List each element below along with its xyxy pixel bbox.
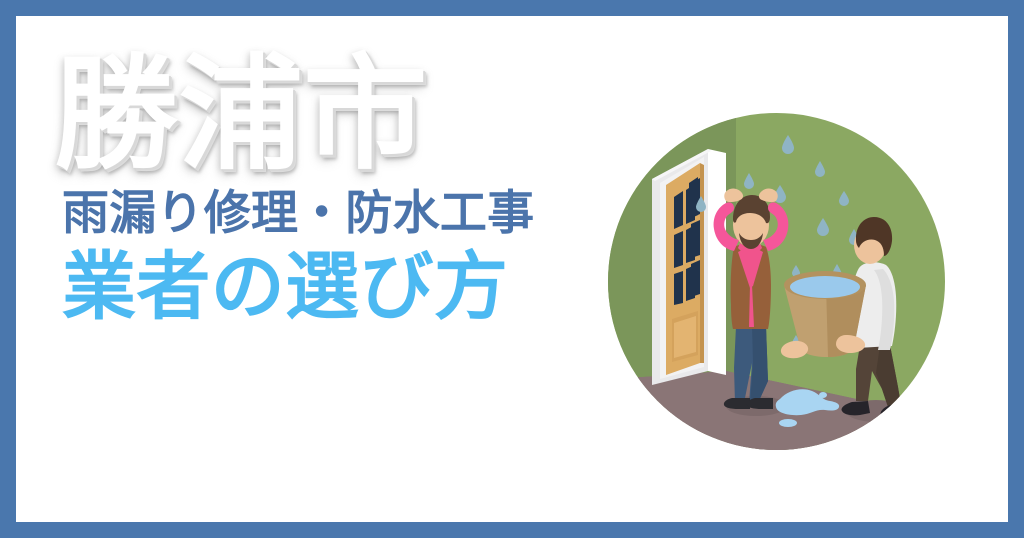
worried-man-shoe-left bbox=[724, 398, 750, 409]
door-edge bbox=[700, 163, 704, 363]
roof-leak-scene-svg bbox=[608, 113, 945, 450]
service-subtitle: 雨漏り修理・防水工事 bbox=[40, 181, 640, 240]
puddle-small bbox=[779, 419, 797, 427]
promo-banner: 勝浦市 雨漏り修理・防水工事 業者の選び方 bbox=[0, 0, 1024, 538]
puddle-droplet bbox=[819, 392, 827, 398]
door-glass-panes-right bbox=[691, 178, 700, 297]
headline-block: 勝浦市 雨漏り修理・防水工事 業者の選び方 bbox=[40, 50, 640, 327]
door-casing-front bbox=[708, 149, 726, 375]
page-title: 勝浦市 bbox=[40, 50, 640, 181]
lead-subtitle: 業者の選び方 bbox=[40, 240, 640, 327]
door-lower-panel-inset bbox=[674, 316, 696, 358]
bucket-water bbox=[790, 276, 860, 298]
worried-man-shoe-right bbox=[747, 398, 773, 409]
roof-leak-illustration bbox=[608, 113, 945, 450]
banner-card: 勝浦市 雨漏り修理・防水工事 業者の選び方 bbox=[16, 16, 1008, 522]
door-group bbox=[652, 149, 726, 385]
